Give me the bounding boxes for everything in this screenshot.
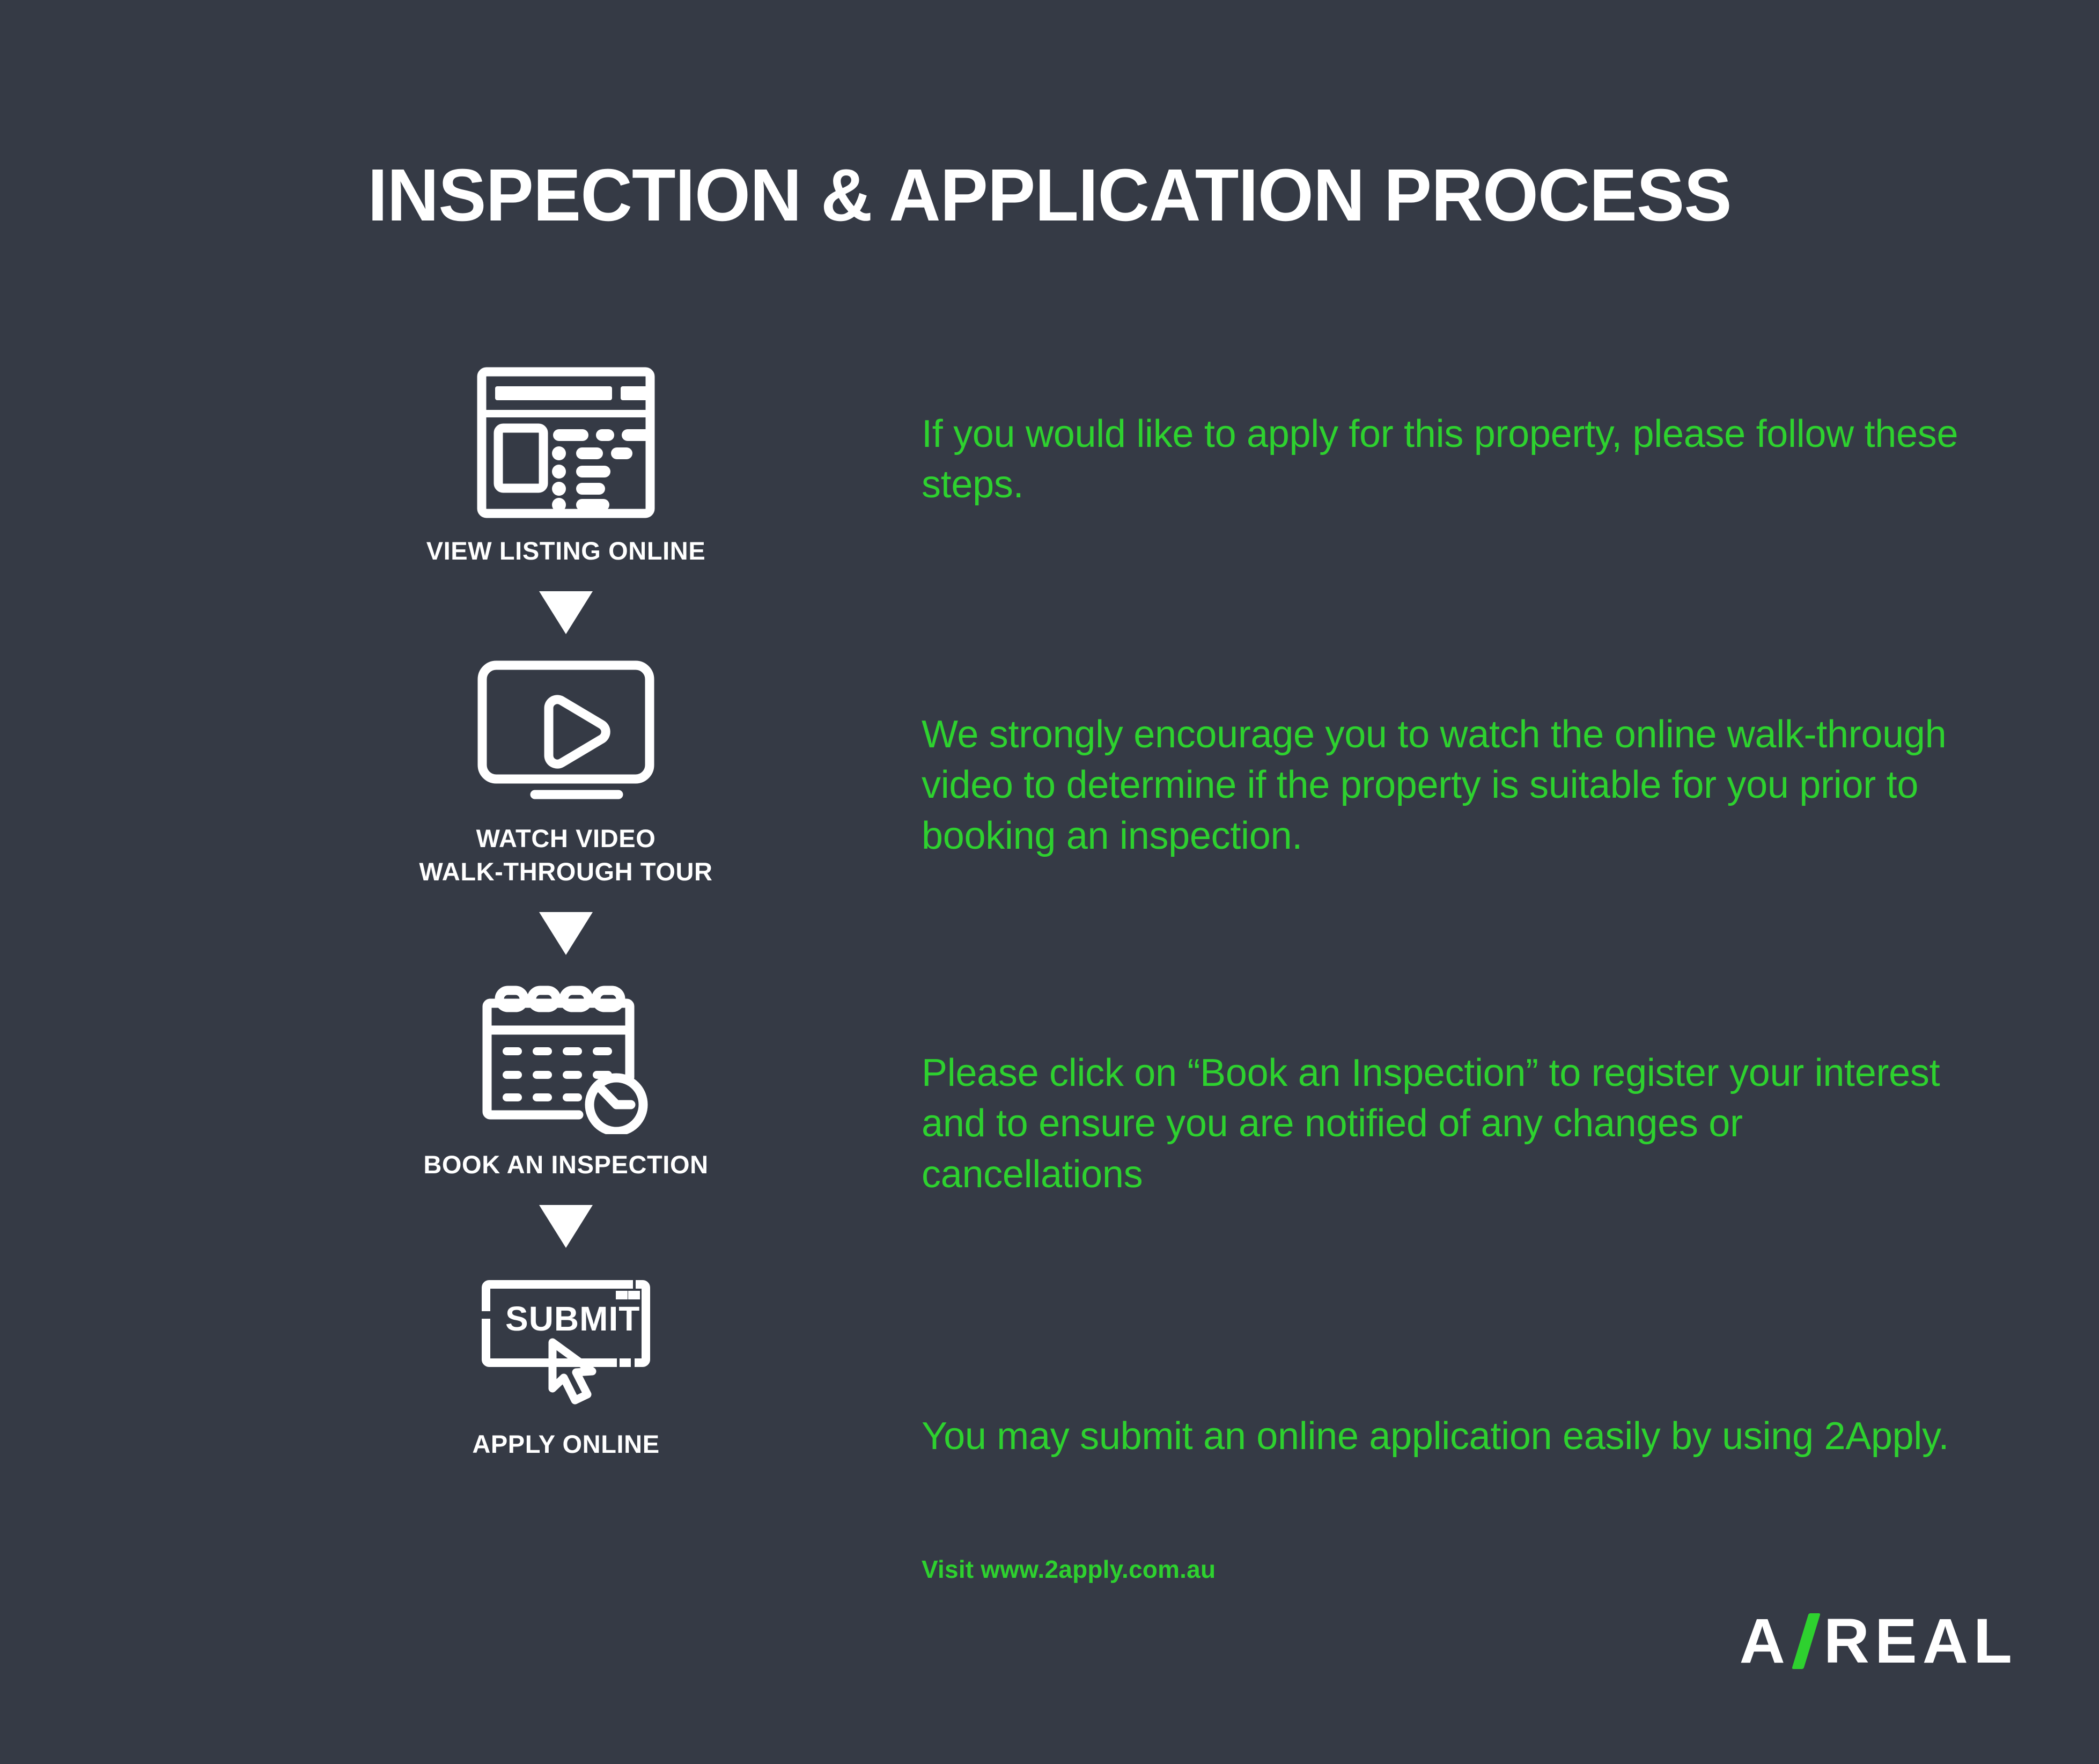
step-label-view-listing-online: VIEW LISTING ONLINE — [370, 534, 762, 568]
copy-paragraph-2: We strongly encourage you to watch the o… — [922, 709, 1968, 861]
copy-paragraph-1: If you would like to apply for this prop… — [922, 409, 1968, 510]
submit-button-cursor-icon: SUBMIT — [370, 1271, 762, 1414]
down-triangle-arrow-icon-1 — [370, 591, 762, 634]
logo-mark-right: REAL — [1824, 1609, 2017, 1673]
copy-paragraph-4: You may submit an online application eas… — [922, 1411, 1949, 1461]
brand-logo: A REAL — [1740, 1609, 2017, 1673]
step-book-an-inspection: BOOK AN INSPECTION — [370, 979, 762, 1181]
step-apply-online: SUBMIT APPLY ONLINE — [370, 1271, 762, 1461]
process-flow-column: VIEW LISTING ONLINE WATCH VIDEO WALK-THR… — [370, 365, 762, 1461]
infographic-canvas: INSPECTION & APPLICATION PROCESS — [0, 0, 2099, 1764]
visit-2apply-link[interactable]: Visit www.2apply.com.au — [922, 1555, 1216, 1584]
video-play-monitor-icon — [370, 658, 762, 808]
calendar-clock-icon — [370, 979, 762, 1134]
step-label-apply-online: APPLY ONLINE — [370, 1428, 762, 1461]
down-triangle-arrow-icon-3 — [370, 1205, 762, 1248]
step-label-book-an-inspection: BOOK AN INSPECTION — [370, 1148, 762, 1181]
green-slash-icon — [1794, 1613, 1818, 1669]
step-label-watch-video: WATCH VIDEO WALK-THROUGH TOUR — [370, 822, 762, 888]
page-title: INSPECTION & APPLICATION PROCESS — [32, 157, 2068, 234]
step-watch-video-walk-through-tour: WATCH VIDEO WALK-THROUGH TOUR — [370, 658, 762, 888]
listing-webpage-icon — [370, 365, 762, 520]
svg-text:SUBMIT: SUBMIT — [505, 1299, 640, 1338]
copy-paragraph-3: Please click on “Book an Inspection” to … — [922, 1048, 1968, 1200]
logo-mark-left: A — [1740, 1609, 1791, 1673]
step-view-listing-online: VIEW LISTING ONLINE — [370, 365, 762, 568]
down-triangle-arrow-icon-2 — [370, 912, 762, 955]
